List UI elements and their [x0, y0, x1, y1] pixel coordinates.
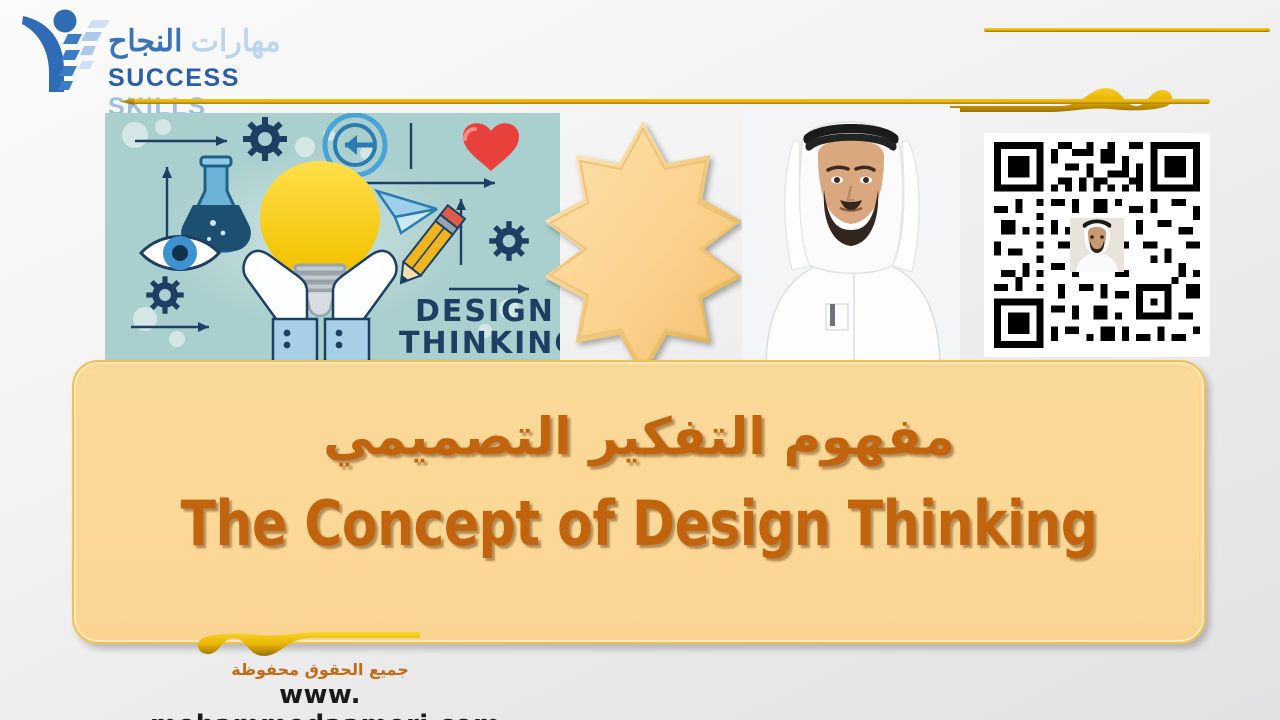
- instructor-portrait: [742, 108, 960, 362]
- title-panel: مفهوم التفكير التصميمي The Concept of De…: [72, 360, 1206, 644]
- eight-pointed-star-badge[interactable]: [545, 118, 741, 380]
- website-url[interactable]: www. mohammedaameri.com: [150, 680, 490, 720]
- logo-arabic-text: مهارات النجاح: [108, 24, 281, 66]
- design-caption-line2: THINKING: [399, 326, 560, 361]
- logo-arabic-part2: النجاح: [108, 25, 182, 58]
- design-thinking-illustration: DESIGN THINKING: [105, 113, 560, 361]
- slide-canvas: مهارات النجاح SUCCESS SKILLS: [0, 0, 1280, 720]
- success-skills-logo[interactable]: مهارات النجاح SUCCESS SKILLS: [12, 6, 282, 98]
- qr-center-avatar: [1070, 218, 1124, 272]
- logo-english-part1: SUCCESS: [108, 64, 240, 92]
- logo-figure-icon: [20, 8, 110, 96]
- copyright-arabic: جميع الحقوق محفوظة: [150, 660, 490, 679]
- page-title-english: The Concept of Design Thinking: [114, 487, 1165, 560]
- footer: جميع الحقوق محفوظة www. mohammedaameri.c…: [0, 660, 1280, 718]
- decorative-flourish-top-right: [950, 14, 1280, 124]
- design-caption-line1: DESIGN: [415, 294, 555, 329]
- gold-divider-rule: [130, 99, 1210, 104]
- logo-arabic-part1: مهارات: [191, 25, 281, 58]
- page-title-arabic: مفهوم التفكير التصميمي: [74, 408, 1204, 467]
- qr-code[interactable]: [984, 133, 1210, 357]
